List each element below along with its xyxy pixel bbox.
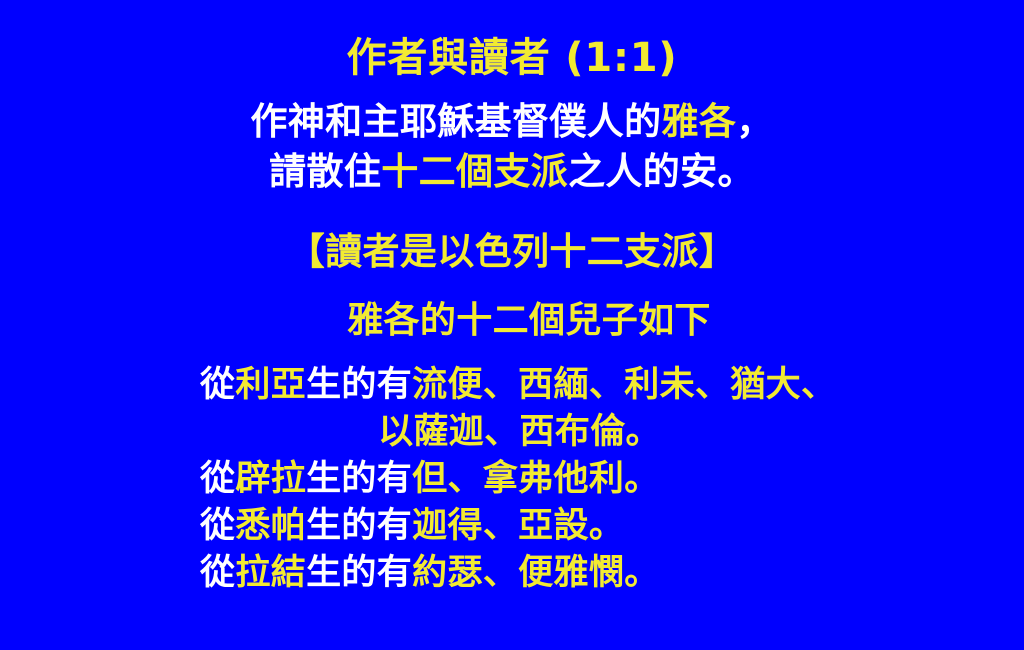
text-run-yellow: 迦得、亞設。 xyxy=(412,506,624,546)
text-run-yellow: 以薩迦、西布倫。 xyxy=(378,412,661,452)
text-run-yellow: 悉帕 xyxy=(235,506,306,546)
text-run-white: 生的有 xyxy=(306,506,412,546)
sons-list-item: 從悉帕生的有迦得、亞設。 xyxy=(200,509,1024,556)
text-run-white: 從 xyxy=(200,506,235,546)
greeting-line: 作神和主耶穌基督僕人的雅各， xyxy=(0,103,1024,153)
slide-title: 作者與讀者 (1:1) xyxy=(0,38,1024,78)
sons-list-item: 從辟拉生的有但、拿弗他利。 xyxy=(200,462,1024,509)
text-run-white: 請散住 xyxy=(269,150,381,193)
sons-list-item: 以薩迦、西布倫。 xyxy=(200,415,1024,462)
text-run-white: 生的有 xyxy=(306,553,412,593)
text-run-yellow: 約瑟、便雅憫。 xyxy=(412,553,659,593)
text-run-yellow: 利亞 xyxy=(235,365,306,405)
presentation-slide: 作者與讀者 (1:1) 作神和主耶穌基督僕人的雅各， 請散住十二個支派之人的安。… xyxy=(0,0,1024,650)
greeting-line: 請散住十二個支派之人的安。 xyxy=(0,153,1024,190)
greeting-block: 作神和主耶穌基督僕人的雅各， 請散住十二個支派之人的安。 xyxy=(0,103,1024,190)
sons-list: 從利亞生的有流便、西緬、利未、猶大、 以薩迦、西布倫。 從辟拉生的有但、拿弗他利… xyxy=(200,368,1024,591)
text-run-yellow: 拉結 xyxy=(235,553,306,593)
text-run-white: 從 xyxy=(200,459,235,499)
text-run-white: ， xyxy=(736,100,773,143)
sons-list-item: 從拉結生的有約瑟、便雅憫。 xyxy=(200,556,1024,591)
text-run-white: 生的有 xyxy=(306,459,412,499)
text-run-yellow: 辟拉 xyxy=(235,459,306,499)
text-run-yellow: 但、拿弗他利。 xyxy=(412,459,659,499)
text-run-white: 作神和主耶穌基督僕人的 xyxy=(250,100,661,143)
text-run-white: 生的有 xyxy=(306,365,412,405)
text-run-yellow: 十二個支派 xyxy=(381,150,568,193)
text-run-yellow: 流便、西緬、利未、猶大、 xyxy=(412,365,836,405)
bracket-heading: 【讀者是以色列十二支派】 xyxy=(0,233,1024,270)
text-run-white: 從 xyxy=(200,553,235,593)
sons-heading: 雅各的十二個兒子如下 xyxy=(0,303,1024,339)
text-run-white: 從 xyxy=(200,365,235,405)
text-run-yellow: 雅各 xyxy=(661,100,736,143)
sons-list-item: 從利亞生的有流便、西緬、利未、猶大、 xyxy=(200,368,1024,415)
text-run-white: 之人的安。 xyxy=(568,150,755,193)
